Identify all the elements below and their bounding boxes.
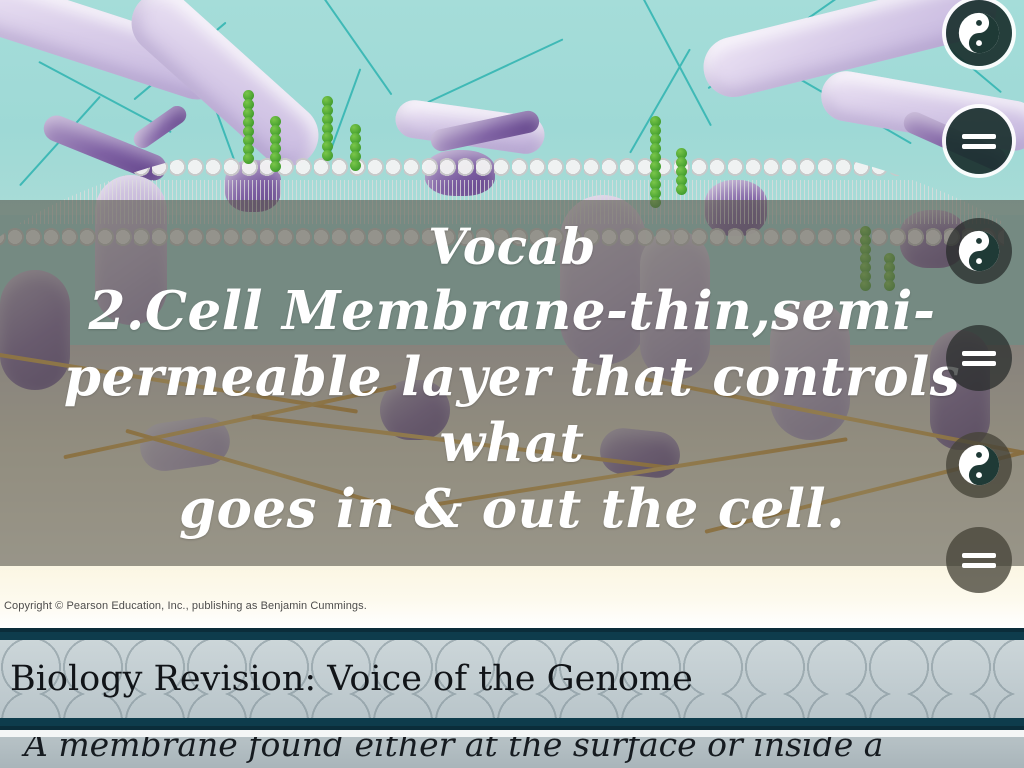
- biology-banner: Biology Revision: Voice of the Genome: [0, 628, 1024, 730]
- slide-body-line-2: permeable layer that controls what: [0, 344, 1024, 476]
- menu-icon[interactable]: [946, 325, 1012, 391]
- slide-text-block: Vocab 2.Cell Membrane-thin,semi- permeab…: [0, 200, 1024, 566]
- menu-bars-glyph: [946, 325, 1012, 391]
- slide-body-line-1: 2.Cell Membrane-thin,semi-: [0, 278, 1024, 344]
- banner-separator: [0, 730, 1024, 737]
- menu-icon[interactable]: [946, 108, 1012, 174]
- yin-yang-icon[interactable]: [946, 0, 1012, 66]
- slide-title: Vocab: [0, 216, 1024, 278]
- slide-canvas: Copyright © Pearson Education, Inc., pub…: [0, 0, 1024, 768]
- figure-caption-strip: [0, 566, 1024, 628]
- menu-bars-glyph: [946, 108, 1012, 174]
- yin-yang-glyph: [946, 218, 1012, 284]
- yin-yang-icon[interactable]: [946, 432, 1012, 498]
- next-slide-text: A membrane found either at the surface o…: [24, 737, 883, 764]
- yin-yang-glyph: [946, 432, 1012, 498]
- banner-hex-pattern: Biology Revision: Voice of the Genome: [0, 640, 1024, 718]
- slide-body-line-3: goes in & out the cell.: [0, 476, 1024, 542]
- banner-title: Biology Revision: Voice of the Genome: [10, 659, 693, 699]
- menu-bars-glyph: [946, 527, 1012, 593]
- copyright-text: Copyright © Pearson Education, Inc., pub…: [4, 600, 704, 612]
- next-slide-preview: A membrane found either at the surface o…: [0, 737, 1024, 768]
- yin-yang-icon[interactable]: [946, 218, 1012, 284]
- yin-yang-glyph: [946, 0, 1012, 66]
- menu-icon[interactable]: [946, 527, 1012, 593]
